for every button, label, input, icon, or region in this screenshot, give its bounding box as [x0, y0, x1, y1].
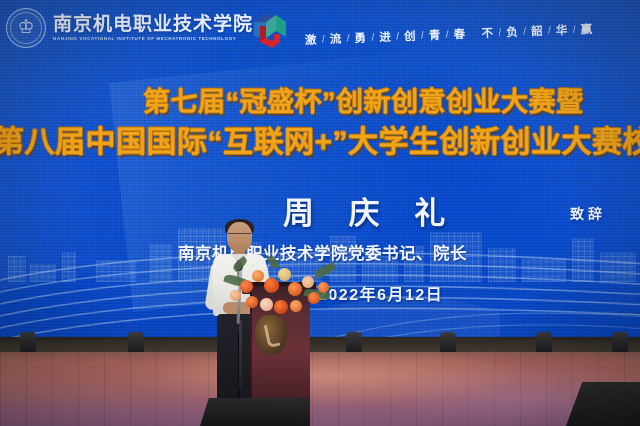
slogan-gap [466, 33, 482, 34]
speaker-name: 周 庆 礼 [283, 188, 458, 233]
slogan-separator: / [347, 33, 350, 44]
backdrop-header: ♔ 南京机电职业技术学院 Nanjing Vocational Institut… [0, 0, 640, 62]
stage-photo: ♔ 南京机电职业技术学院 Nanjing Vocational Institut… [0, 0, 640, 426]
slogan-char: 激 [305, 32, 318, 48]
slogan-char: 勇 [354, 30, 367, 46]
stage-floor [0, 352, 640, 426]
flower-bouquet-icon [222, 258, 340, 320]
slogan-char: 创 [404, 28, 417, 44]
crest-figure-glyph: ♔ [17, 18, 34, 37]
event-title-line-1: 第七届“冠盛杯”创新创意创业大赛暨 [143, 80, 584, 119]
slogan-char: 赢 [580, 21, 593, 37]
slogan-strip: 激 / 流 / 勇 / 进 / 创 / 青 / 春 不 / 负 / 韶 / 华 … [305, 14, 640, 53]
slogan-char: 春 [453, 26, 466, 42]
event-title-line-2: 第八届中国国际“互联网+”大学生创新创业大赛校内选拔 [0, 117, 640, 161]
school-name-en: Nanjing Vocational Institute of Mechatro… [53, 36, 253, 41]
slogan-char: 韶 [531, 23, 544, 39]
slogan-char: 不 [481, 25, 494, 41]
slogan-separator: / [421, 30, 424, 41]
slogan-char: 流 [329, 31, 342, 47]
slogan-separator: / [548, 25, 551, 36]
school-crest-icon: ♔ [6, 8, 46, 48]
slogan-char: 青 [429, 27, 442, 43]
slogan-separator: / [498, 27, 501, 38]
floor-monitor [200, 398, 310, 426]
microphone-stand [232, 320, 248, 390]
mic-pole [239, 320, 242, 390]
slogan-char: 华 [556, 22, 569, 38]
school-name-block: 南京机电职业技术学院 Nanjing Vocational Institute … [53, 15, 253, 42]
school-logo: ♔ 南京机电职业技术学院 Nanjing Vocational Institut… [6, 8, 253, 48]
slogan-separator: / [322, 34, 325, 45]
slogan-separator: / [396, 31, 399, 42]
speech-label: 致辞 [570, 204, 606, 224]
school-name-cn: 南京机电职业技术学院 [53, 15, 253, 35]
slogan-separator: / [371, 32, 374, 43]
slogan-char: 负 [506, 24, 519, 40]
colored-cube-logo-icon [250, 10, 290, 50]
slogan-separator: / [446, 29, 449, 40]
slogan-separator: / [573, 24, 576, 35]
slogan-separator: / [523, 26, 526, 37]
glasses-icon [228, 233, 251, 240]
podium-emblem-icon [255, 315, 287, 355]
slogan-char: 进 [379, 29, 392, 45]
